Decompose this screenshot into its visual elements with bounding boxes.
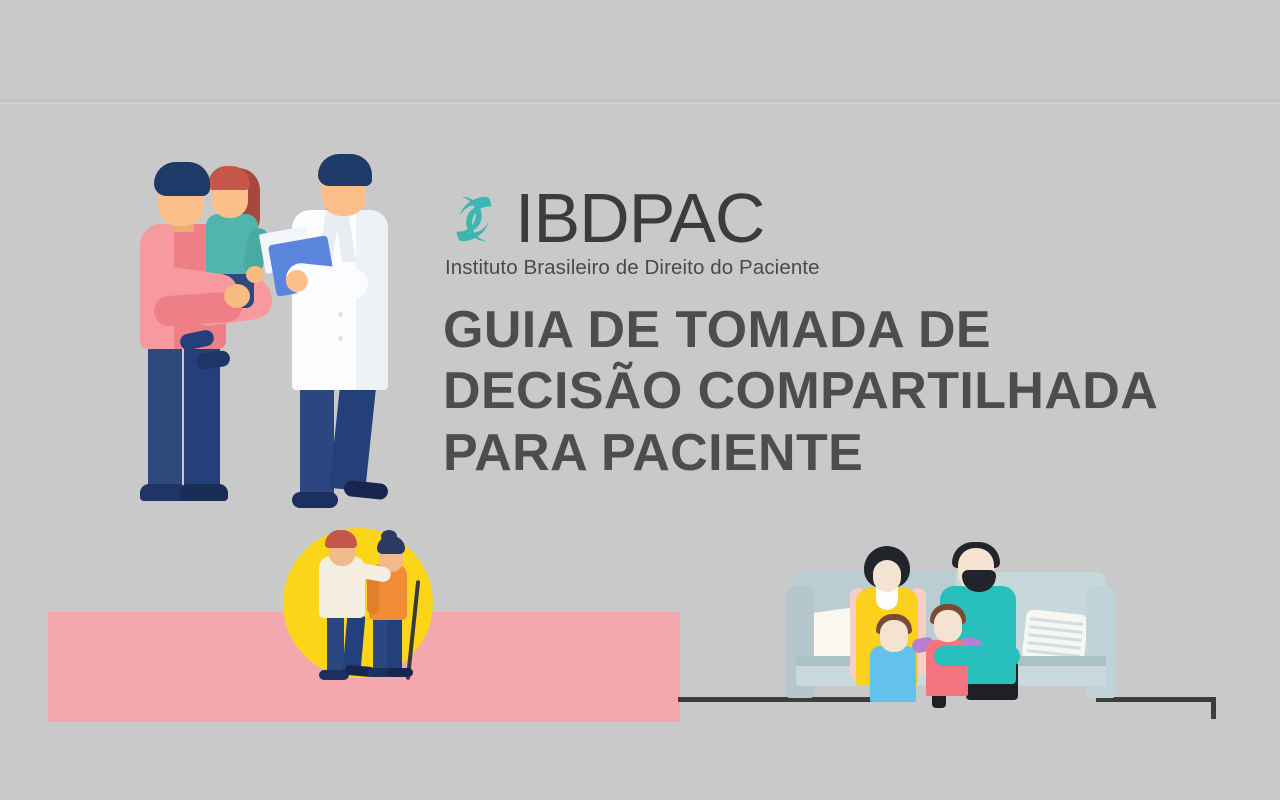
father-arm — [934, 646, 1020, 666]
boy-shirt — [870, 646, 916, 702]
top-divider-rule-secondary — [0, 103, 1280, 104]
boy-face — [880, 620, 908, 652]
family-on-couch-illustration — [786, 538, 1116, 703]
top-band — [0, 0, 1280, 100]
child-shoe-right — [195, 350, 231, 371]
doctor-shoe-right — [343, 480, 388, 501]
page-title-line-1: GUIA DE TOMADA DE — [443, 300, 1243, 361]
doctor-lab-coat-shade — [356, 210, 388, 390]
parent-hand — [224, 284, 250, 308]
elderly-woman-shoe-right — [387, 668, 413, 677]
doctor-coat-button-2 — [338, 312, 343, 317]
elderly-man-hair — [325, 530, 357, 548]
elderly-man-leg-left — [327, 614, 344, 676]
parent-shoe-right — [180, 484, 228, 501]
elderly-woman-leg-left — [373, 616, 388, 674]
elderly-woman-hair-bun — [381, 530, 397, 543]
doctor-coat-button-3 — [338, 336, 343, 341]
ground-line-drop — [1211, 697, 1216, 719]
parent-holding-child-illustration — [118, 148, 278, 520]
ibdpac-swirl-logo-icon — [443, 188, 505, 250]
brand-wordmark: IBDPAC — [515, 186, 764, 252]
page-title: GUIA DE TOMADA DE DECISÃO COMPARTILHADA … — [443, 300, 1243, 484]
elderly-woman-leg-right — [387, 616, 402, 672]
doctor-hair — [318, 154, 372, 186]
girl-face — [934, 610, 962, 642]
brand-tagline: Instituto Brasileiro de Direito do Pacie… — [445, 256, 1203, 280]
top-divider-rule — [0, 100, 1280, 101]
parent-leg-left — [148, 338, 182, 493]
brand-block: IBDPAC Instituto Brasileiro de Direito d… — [443, 186, 1203, 280]
page-title-line-2: DECISÃO COMPARTILHADA — [443, 361, 1243, 422]
elderly-couple-walking-illustration — [283, 528, 433, 690]
mother-face — [873, 560, 901, 592]
slide-canvas: IBDPAC Instituto Brasileiro de Direito d… — [0, 0, 1280, 800]
doctor-hand — [286, 270, 308, 292]
doctor-with-clipboard-illustration — [278, 148, 408, 520]
parent-hair — [154, 162, 210, 196]
doctor-shoe-left — [292, 492, 338, 508]
page-title-line-3: PARA PACIENTE — [443, 423, 1243, 484]
child-hand — [246, 266, 264, 283]
